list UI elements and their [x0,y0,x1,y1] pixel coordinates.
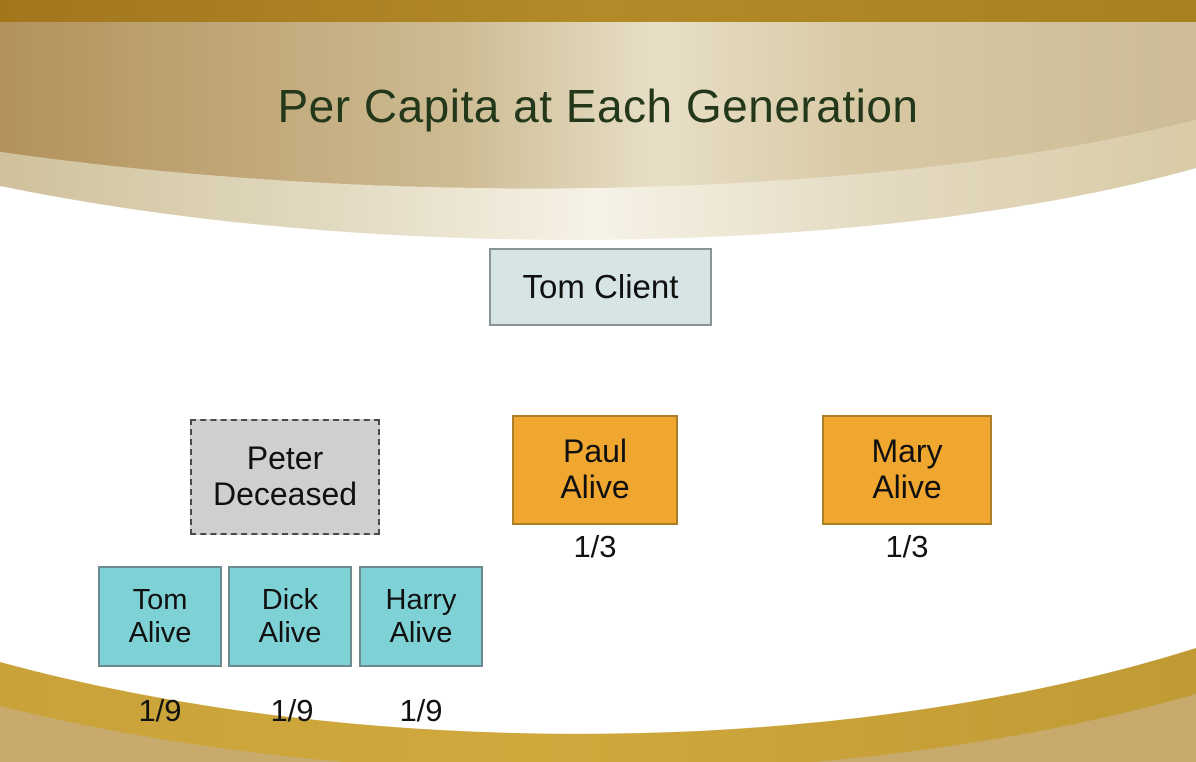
share-paul: 1/3 [512,529,678,565]
node-dick-name: Dick [262,584,318,616]
slide-canvas: Per Capita at Each Generation Tom Client… [0,0,1196,762]
node-client-name: Tom Client [523,269,679,306]
node-tom: Tom Alive [98,566,222,667]
node-paul-name: Paul [563,434,627,470]
node-paul-status: Alive [560,470,629,506]
node-mary: Mary Alive [822,415,992,525]
node-client: Tom Client [489,248,712,326]
node-dick-status: Alive [259,617,322,649]
node-paul: Paul Alive [512,415,678,525]
share-harry: 1/9 [359,693,483,729]
node-harry-name: Harry [386,584,457,616]
node-mary-name: Mary [871,434,942,470]
node-harry-status: Alive [390,617,453,649]
node-peter: Peter Deceased [190,419,380,535]
node-peter-name: Peter [247,441,323,477]
share-tom: 1/9 [98,693,222,729]
node-tom-status: Alive [129,617,192,649]
node-harry: Harry Alive [359,566,483,667]
share-mary: 1/3 [822,529,992,565]
node-mary-status: Alive [872,470,941,506]
node-dick: Dick Alive [228,566,352,667]
node-tom-name: Tom [133,584,188,616]
node-peter-status: Deceased [213,477,357,513]
share-dick: 1/9 [230,693,354,729]
page-title: Per Capita at Each Generation [0,79,1196,133]
